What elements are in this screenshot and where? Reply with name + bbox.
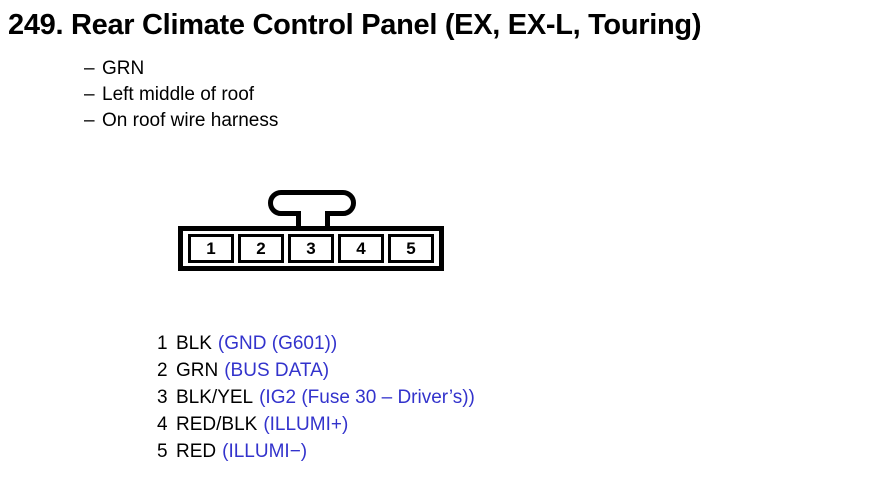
connector-cavity: 2 bbox=[238, 234, 284, 263]
note-text: On roof wire harness bbox=[102, 108, 278, 134]
note-item: – GRN bbox=[84, 56, 278, 82]
note-item: – On roof wire harness bbox=[84, 108, 278, 134]
wire-function-label: (IG2 (Fuse 30 – Driver’s)) bbox=[259, 384, 475, 411]
wire-pin-number: 2 bbox=[157, 357, 176, 384]
wire-legend-row: 1 BLK (GND (G601)) bbox=[157, 330, 475, 357]
wire-color-code: BLK/YEL bbox=[176, 384, 253, 411]
wire-color-code: RED/BLK bbox=[176, 411, 257, 438]
wire-function-label: (ILLUMI+) bbox=[263, 411, 348, 438]
wire-pin-number: 5 bbox=[157, 438, 176, 465]
note-dash-icon: – bbox=[84, 108, 102, 134]
connector-cavity: 5 bbox=[388, 234, 434, 263]
wire-color-code: BLK bbox=[176, 330, 212, 357]
wire-legend-row: 3 BLK/YEL (IG2 (Fuse 30 – Driver’s)) bbox=[157, 384, 475, 411]
wire-legend-row: 2 GRN (BUS DATA) bbox=[157, 357, 475, 384]
connector-cavity: 1 bbox=[188, 234, 234, 263]
page-title: 249. Rear Climate Control Panel (EX, EX-… bbox=[8, 8, 701, 42]
wire-legend: 1 BLK (GND (G601)) 2 GRN (BUS DATA) 3 BL… bbox=[157, 330, 475, 465]
connector-diagram: 1 2 3 4 5 bbox=[178, 190, 446, 272]
wire-pin-number: 3 bbox=[157, 384, 176, 411]
note-text: GRN bbox=[102, 56, 144, 82]
wire-legend-row: 4 RED/BLK (ILLUMI+) bbox=[157, 411, 475, 438]
wire-function-label: (ILLUMI−) bbox=[222, 438, 307, 465]
wire-pin-number: 4 bbox=[157, 411, 176, 438]
note-dash-icon: – bbox=[84, 82, 102, 108]
wire-legend-row: 5 RED (ILLUMI−) bbox=[157, 438, 475, 465]
notes-list: – GRN – Left middle of roof – On roof wi… bbox=[84, 56, 278, 134]
note-text: Left middle of roof bbox=[102, 82, 254, 108]
wire-color-code: GRN bbox=[176, 357, 218, 384]
connector-cavity: 3 bbox=[288, 234, 334, 263]
note-dash-icon: – bbox=[84, 56, 102, 82]
wire-color-code: RED bbox=[176, 438, 216, 465]
wire-function-label: (GND (G601)) bbox=[218, 330, 337, 357]
connector-cavity: 4 bbox=[338, 234, 384, 263]
connector-body: 1 2 3 4 5 bbox=[178, 226, 444, 271]
wire-pin-number: 1 bbox=[157, 330, 176, 357]
wire-function-label: (BUS DATA) bbox=[224, 357, 329, 384]
note-item: – Left middle of roof bbox=[84, 82, 278, 108]
